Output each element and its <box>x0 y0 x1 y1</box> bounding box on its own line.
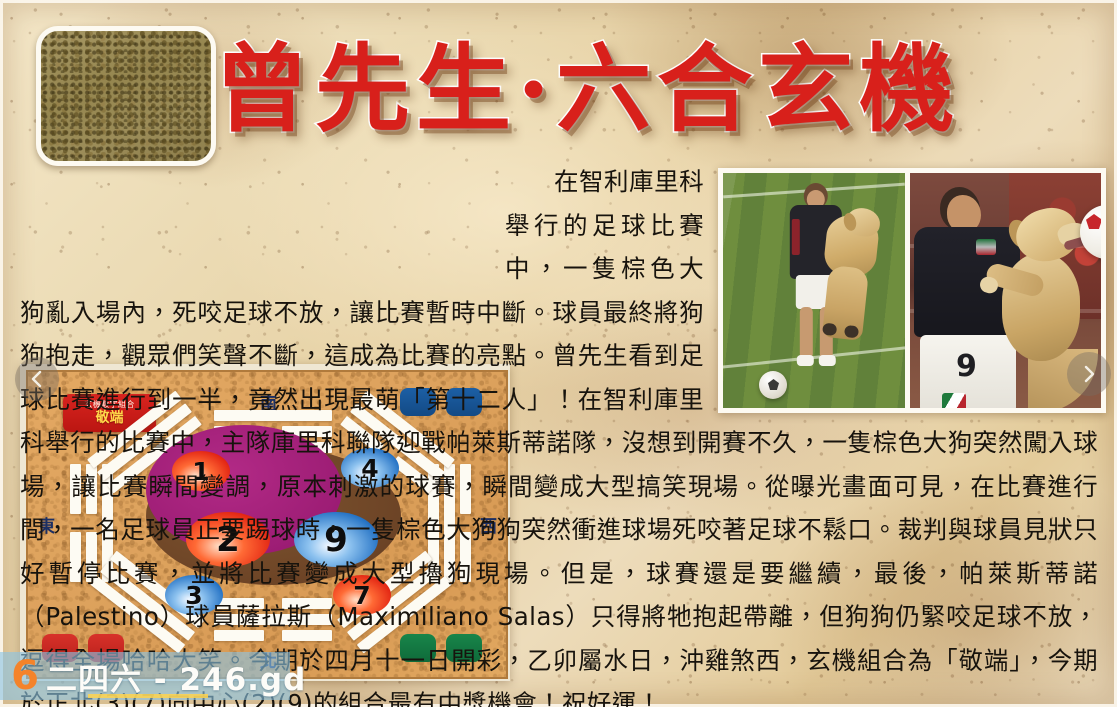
chevron-right-icon <box>1079 364 1099 384</box>
board-text-wrap <box>0 160 505 260</box>
site-logo-icon: 6 <box>4 655 46 697</box>
watermark-text: 二四六 - 246.gd <box>46 654 306 699</box>
photo-text-wrap <box>704 160 1098 412</box>
page-root: 曾先生·六合玄機 <box>0 0 1117 707</box>
textured-logo-plate <box>36 26 216 166</box>
chevron-left-icon <box>27 369 47 389</box>
watermark-bar: 6 二四六 - 246.gd <box>0 652 290 700</box>
page-title: 曾先生·六合玄機 <box>214 38 960 142</box>
next-button[interactable] <box>1067 352 1111 396</box>
prev-button[interactable] <box>15 357 59 401</box>
watermark-underline <box>88 694 208 698</box>
page-header: 曾先生·六合玄機 <box>0 0 1117 160</box>
article-body: 在智利庫里科舉行的足球比賽中，一隻棕色大狗亂入場內，死咬足球不放，讓比賽暫時中斷… <box>20 160 1098 690</box>
